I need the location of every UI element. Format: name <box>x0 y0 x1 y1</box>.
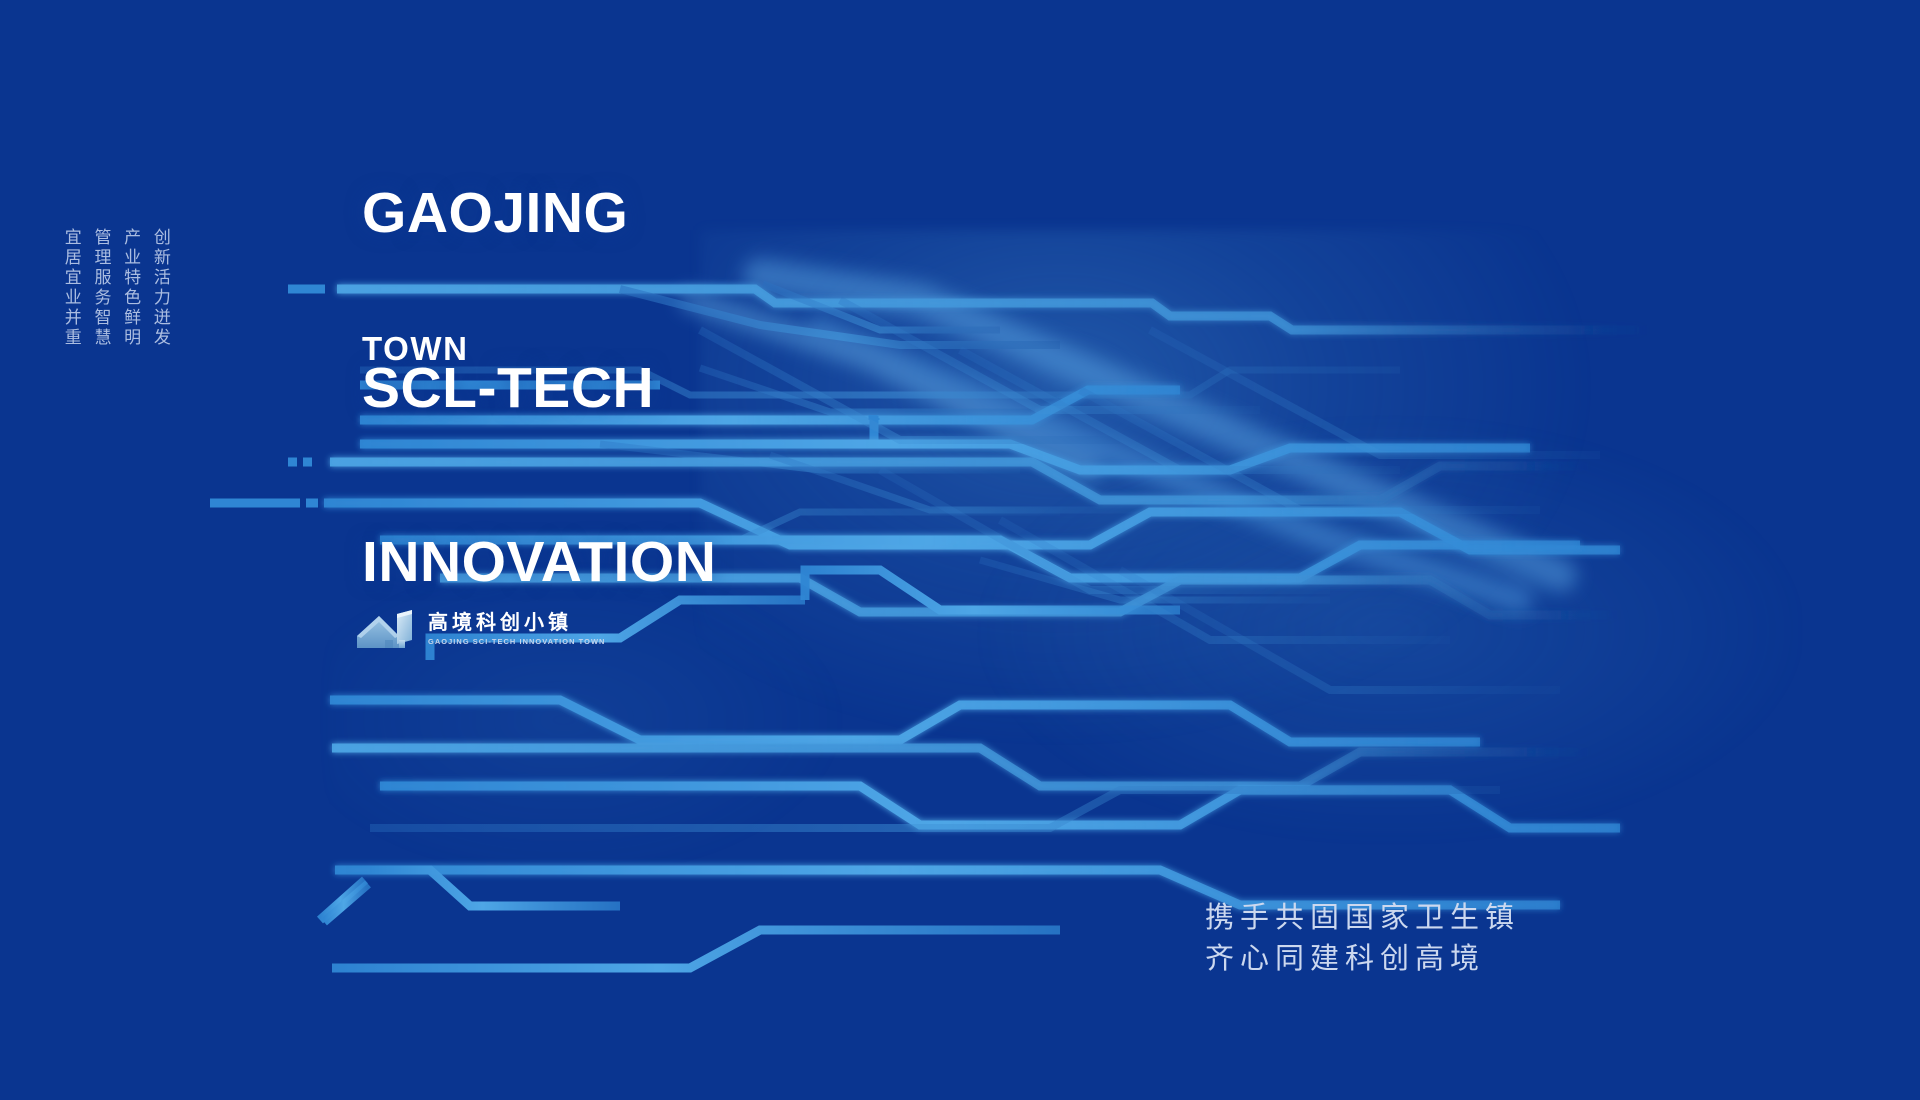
house-roof-icon <box>355 608 417 650</box>
vertical-slogan-column-1: 创新活力迸发 <box>149 228 169 348</box>
poster-canvas: GAOJING SCL-TECH INNOVATION TOWN 创新活力迸发 … <box>0 0 1920 1100</box>
bottom-slogan-line-2: 齐心同建科创高境 <box>1205 938 1520 979</box>
vertical-slogan: 创新活力迸发 产业特色鲜明 管理服务智慧 宜居宜业并重 <box>60 228 169 388</box>
circuit-trace-graphic <box>0 0 1920 1100</box>
bottom-slogan-line-1: 携手共固国家卫生镇 <box>1205 897 1520 938</box>
title-line-1: GAOJING <box>362 184 716 242</box>
vertical-slogan-column-2: 产业特色鲜明 <box>119 228 139 348</box>
logo-text: 高境科创小镇 GAOJING SCI-TECH INNOVATION TOWN <box>428 612 605 646</box>
vertical-slogan-column-4: 宜居宜业并重 <box>60 228 80 348</box>
title-line-3: INNOVATION <box>362 533 716 591</box>
vertical-slogan-column-3: 管理服务智慧 <box>90 228 110 348</box>
title-line-4: TOWN <box>362 330 469 368</box>
bottom-slogan: 携手共固国家卫生镇 齐心同建科创高境 <box>1205 897 1520 979</box>
logo: 高境科创小镇 GAOJING SCI-TECH INNOVATION TOWN <box>355 608 605 650</box>
logo-chinese-name: 高境科创小镇 <box>428 612 605 634</box>
logo-english-name: GAOJING SCI-TECH INNOVATION TOWN <box>428 637 605 646</box>
